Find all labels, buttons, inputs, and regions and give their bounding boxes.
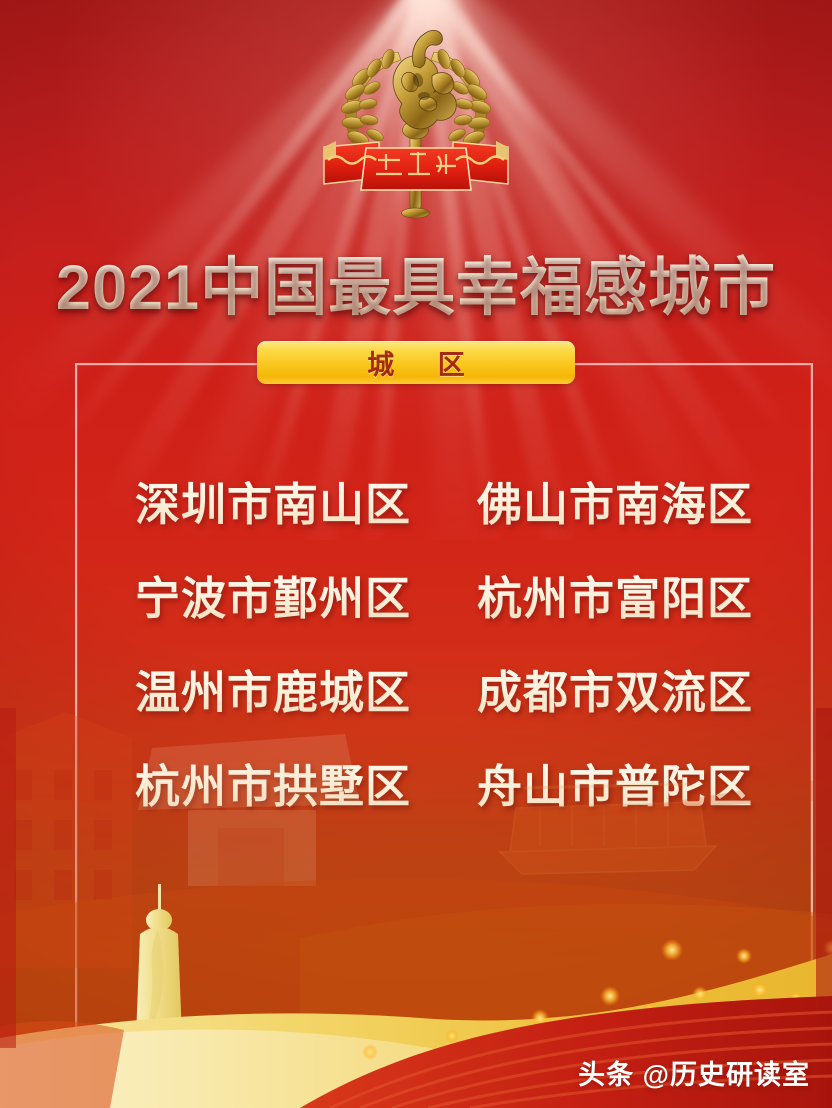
page-title: 2021中国最具幸福感城市 — [0, 237, 832, 328]
golden-trophy-laurel-emblem — [306, 8, 526, 223]
poster-root: 2021中国最具幸福感城市 城 区 深圳市南山区 佛山市南海区 宁波市鄞州区 杭… — [0, 0, 832, 1108]
city-item: 温州市鹿城区 — [128, 656, 418, 721]
category-badge: 城 区 — [257, 341, 575, 384]
city-list: 深圳市南山区 佛山市南海区 宁波市鄞州区 杭州市富阳区 温州市鹿城区 成都市双流… — [75, 468, 813, 844]
city-item: 杭州市富阳区 — [470, 562, 760, 627]
watermark: 头条 @历史研读室 — [578, 1053, 810, 1092]
city-item: 佛山市南海区 — [470, 468, 760, 533]
city-row: 温州市鹿城区 成都市双流区 — [75, 656, 813, 721]
city-row: 深圳市南山区 佛山市南海区 — [75, 468, 813, 533]
city-item: 宁波市鄞州区 — [128, 562, 418, 627]
category-badge-label: 城 区 — [349, 343, 483, 382]
city-row: 杭州市拱墅区 舟山市普陀区 — [75, 750, 813, 815]
city-row: 宁波市鄞州区 杭州市富阳区 — [75, 562, 813, 627]
city-item: 杭州市拱墅区 — [128, 750, 418, 815]
city-item: 成都市双流区 — [470, 656, 760, 721]
city-item: 舟山市普陀区 — [470, 750, 760, 815]
city-item: 深圳市南山区 — [128, 468, 418, 533]
